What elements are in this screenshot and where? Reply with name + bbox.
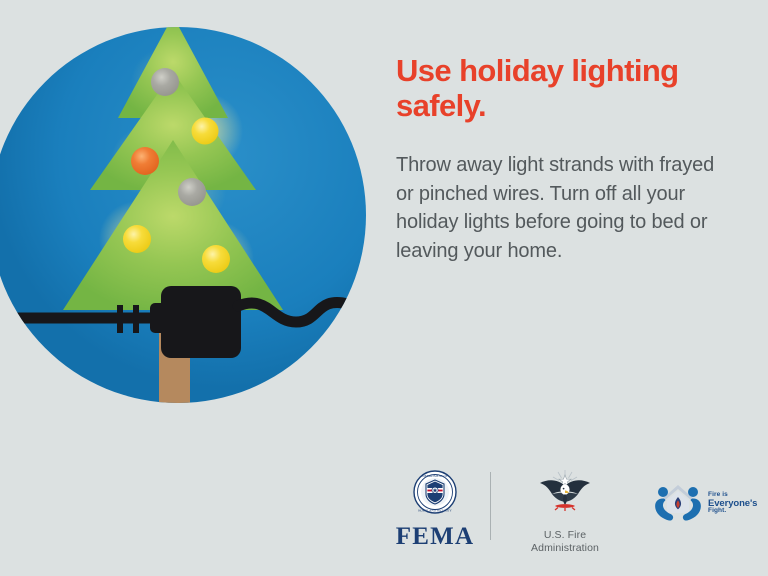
logo-divider — [490, 472, 491, 540]
svg-text:DEPARTMENT OF: DEPARTMENT OF — [423, 474, 448, 478]
bulb-yellow-lower-right — [202, 245, 230, 273]
usfa-label-line1: U.S. Fire — [544, 529, 586, 541]
bulb-gray-top — [151, 68, 179, 96]
message-block: Use holiday lighting safely. Throw away … — [396, 54, 736, 265]
fief-text-block: Fire is Everyone's Fight. — [708, 492, 757, 516]
plug-adapter-body — [161, 286, 241, 358]
fema-logo: DEPARTMENT OF HOMELAND SECURITY FEMA — [392, 466, 478, 549]
fire-is-everyones-fight-logo: Fire is Everyone's Fight. — [651, 466, 757, 527]
bulb-yellow-lower-left — [123, 225, 151, 253]
bulb-yellow-upper — [192, 118, 219, 145]
agency-logo-bar: DEPARTMENT OF HOMELAND SECURITY FEMA — [392, 466, 768, 566]
usfa-logo: U.S. Fire Administration — [509, 466, 621, 556]
dhs-seal-icon: DEPARTMENT OF HOMELAND SECURITY — [413, 470, 457, 519]
bulb-gray-middle — [178, 178, 206, 206]
poster-canvas: Use holiday lighting safely. Throw away … — [0, 0, 768, 576]
svg-text:HOMELAND SECURITY: HOMELAND SECURITY — [418, 508, 452, 512]
two-figures-house-icon — [651, 480, 705, 527]
usfa-label: U.S. Fire Administration — [531, 529, 599, 556]
usfa-eagle-icon — [534, 468, 596, 525]
bulb-orange-left — [131, 147, 159, 175]
fief-line-3: Fight. — [708, 508, 757, 515]
usfa-label-line2: Administration — [531, 542, 599, 554]
safety-body-text: Throw away light strands with frayed or … — [396, 123, 736, 265]
fema-wordmark: FEMA — [396, 524, 474, 549]
page-headline: Use holiday lighting safely. — [396, 54, 736, 123]
illustration-christmas-tree — [0, 0, 380, 440]
